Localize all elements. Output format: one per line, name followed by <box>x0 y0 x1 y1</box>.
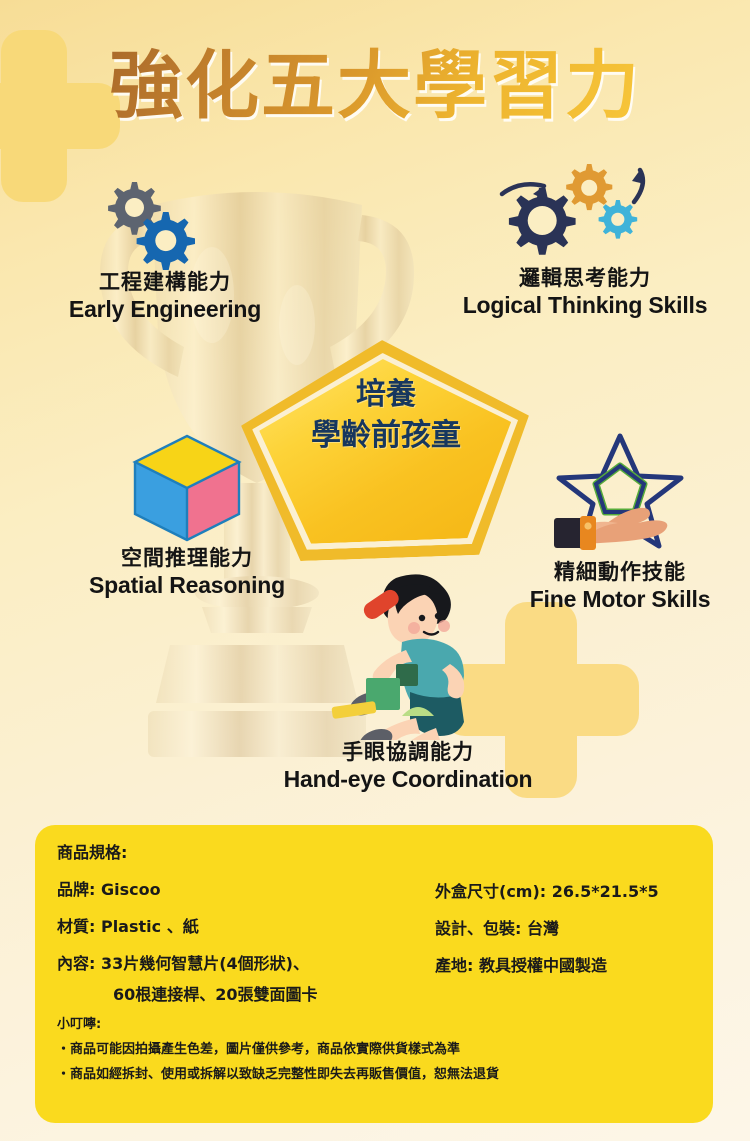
note-item: ・商品可能因拍攝產生色差，圖片僅供參考，商品依實際供貨樣式為準 <box>57 1043 697 1057</box>
spec-origin: 產地: 教具授權中國製造 <box>435 958 705 974</box>
spec-heading: 商品規格: <box>57 845 457 861</box>
skill-label-zh: 工程建構能力 <box>20 270 310 296</box>
poster-title-container: 強化五大學習力 <box>0 26 750 133</box>
skill-item-logical-thinking: 邏輯思考能力 Logical Thinking Skills <box>440 160 730 319</box>
spec-column-left: 商品規格: 品牌: Giscoo 材質: Plastic 、紙 內容: 33片幾… <box>57 845 457 1024</box>
child-blocks-icon <box>318 568 498 740</box>
cube-icon <box>127 428 247 546</box>
skill-item-hand-eye: 手眼協調能力 Hand-eye Coordination <box>238 568 578 793</box>
spec-material: 材質: Plastic 、紙 <box>57 919 457 935</box>
pentagon-line-1: 培養 <box>244 374 528 415</box>
skill-label-zh: 手眼協調能力 <box>238 740 578 766</box>
notes-section: 小叮嚀: ・商品可能因拍攝產生色差，圖片僅供參考，商品依實際供貨樣式為準 ・商品… <box>57 1013 697 1094</box>
gears-icon <box>85 178 245 270</box>
product-spec-panel: 商品規格: 品牌: Giscoo 材質: Plastic 、紙 內容: 33片幾… <box>35 825 713 1123</box>
spec-content-line-2: 60根連接桿、20張雙面圖卡 <box>57 987 457 1003</box>
page-title: 強化五大學習力 <box>109 26 641 133</box>
gears-arrows-icon <box>490 160 680 266</box>
poster-canvas: 強化五大學習力 培養 學齡前孩童 工程建構能力 Early Engin <box>0 0 750 1141</box>
spec-box-size: 外盒尺寸(cm): 26.5*21.5*5 <box>435 884 705 900</box>
note-item: ・商品如經拆封、使用或拆解以致缺乏完整性即失去再販售價值，恕無法退貨 <box>57 1068 697 1082</box>
skill-label-en: Early Engineering <box>20 296 310 324</box>
spec-content-line-1: 內容: 33片幾何智慧片(4個形狀)、 <box>57 956 457 972</box>
spec-brand: 品牌: Giscoo <box>57 882 457 898</box>
skill-label-zh: 邏輯思考能力 <box>440 266 730 292</box>
spec-design-package: 設計、包裝: 台灣 <box>435 921 705 937</box>
skill-label-en: Hand-eye Coordination <box>238 766 578 794</box>
skill-label-en: Logical Thinking Skills <box>440 292 730 320</box>
skill-item-early-engineering: 工程建構能力 Early Engineering <box>20 178 310 323</box>
notes-title: 小叮嚀: <box>57 1013 697 1032</box>
spec-column-right: 外盒尺寸(cm): 26.5*21.5*5 設計、包裝: 台灣 產地: 教具授權… <box>435 884 705 995</box>
hand-star-icon <box>540 430 700 560</box>
